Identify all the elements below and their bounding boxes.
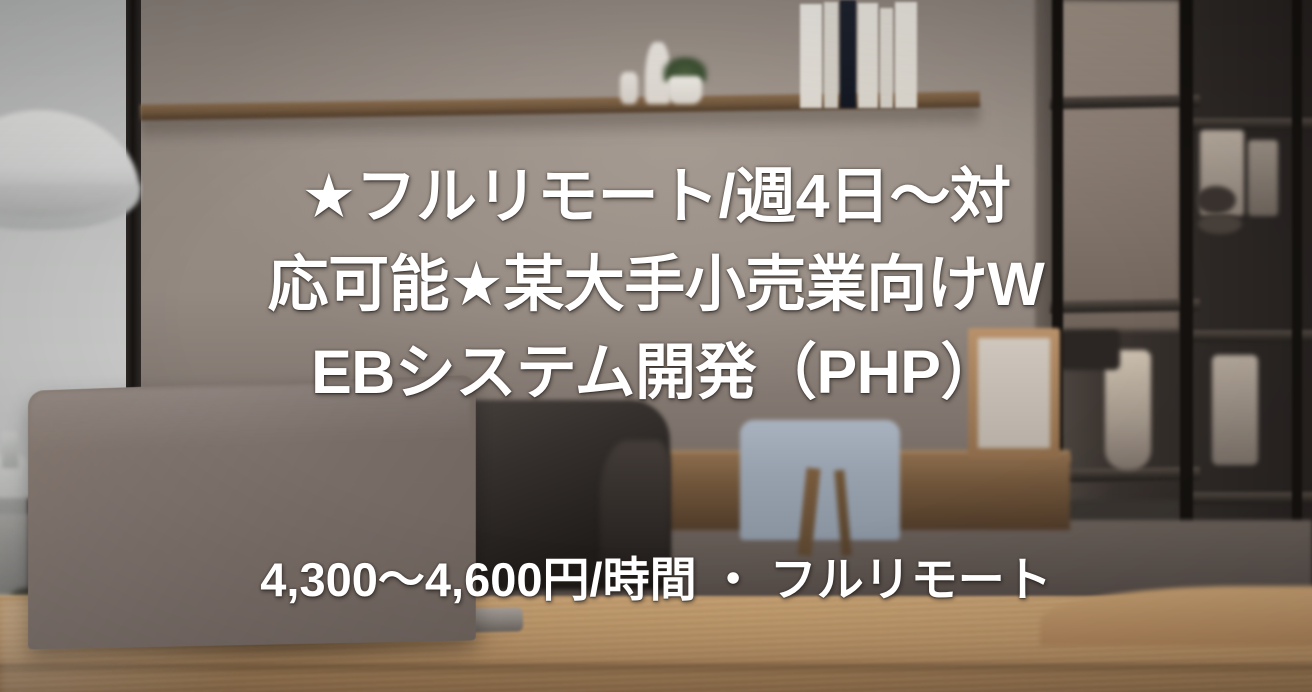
blue-chair xyxy=(740,420,900,540)
shelving-post xyxy=(1292,0,1302,590)
background-scene xyxy=(0,0,1312,692)
book-item xyxy=(858,3,878,108)
shelf-books xyxy=(790,0,980,108)
book-item xyxy=(895,2,917,108)
shelving-warm-panel xyxy=(1060,0,1180,330)
laptop-lid-highlight xyxy=(30,380,470,452)
shelf-object xyxy=(1212,355,1258,465)
book-item xyxy=(824,2,838,108)
book-item xyxy=(840,0,856,108)
shelf-object xyxy=(1196,186,1236,214)
office-chair-arm xyxy=(600,440,670,580)
shelf-object xyxy=(1060,330,1120,370)
book-item xyxy=(800,4,822,108)
book-item xyxy=(880,8,893,108)
shelving-post xyxy=(1180,0,1193,590)
picture-frame-inner xyxy=(978,338,1050,448)
banner-image: ★フルリモート/週4日〜対 応可能★某大手小売業向けW EBシステム開発（PHP… xyxy=(0,0,1312,692)
bottle-neck xyxy=(2,432,18,468)
shelf-object xyxy=(1248,140,1278,216)
shelf-plant-pot xyxy=(668,76,702,104)
shelf-small-vase xyxy=(620,72,638,104)
shelf-object xyxy=(1198,214,1242,234)
